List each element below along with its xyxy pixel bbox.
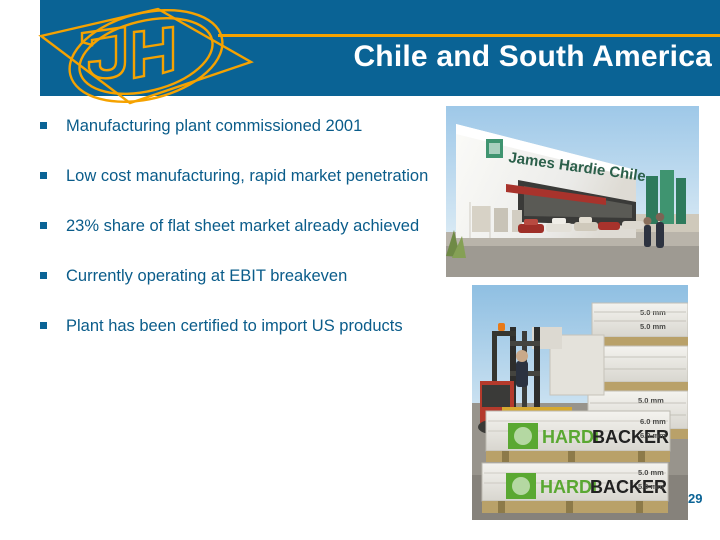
list-item: 23% share of flat sheet market already a… <box>40 214 432 239</box>
svg-text:5.0 mm: 5.0 mm <box>638 482 664 491</box>
svg-text:6.0 mm: 6.0 mm <box>640 431 666 440</box>
header-accent-rule <box>218 34 720 37</box>
page-number: 29 <box>688 491 702 506</box>
bullet-list: Manufacturing plant commissioned 2001 Lo… <box>40 114 432 364</box>
list-item-label: Plant has been certified to import US pr… <box>66 314 403 339</box>
james-hardie-jh-logo <box>30 0 270 112</box>
plant-exterior-photo: James Hardie Chile <box>446 106 699 277</box>
svg-text:5.0 mm: 5.0 mm <box>640 308 666 317</box>
list-item-label: Currently operating at EBIT breakeven <box>66 264 347 289</box>
bullet-square-icon <box>40 122 47 129</box>
list-item: Manufacturing plant commissioned 2001 <box>40 114 432 139</box>
list-item: Currently operating at EBIT breakeven <box>40 264 432 289</box>
list-item: Plant has been certified to import US pr… <box>40 314 432 339</box>
bullet-square-icon <box>40 322 47 329</box>
bullet-square-icon <box>40 172 47 179</box>
bullet-square-icon <box>40 272 47 279</box>
list-item-label: Manufacturing plant commissioned 2001 <box>66 114 362 139</box>
list-item: Low cost manufacturing, rapid market pen… <box>40 164 432 189</box>
svg-text:5.0 mm: 5.0 mm <box>640 322 666 331</box>
svg-text:6.0 mm: 6.0 mm <box>640 417 666 426</box>
svg-text:5.0 mm: 5.0 mm <box>638 468 664 477</box>
list-item-label: 23% share of flat sheet market already a… <box>66 214 419 239</box>
hardibacker-pallets-photo: 5.0 mm 5.0 mm 5.0 mm 5.0 mm <box>472 285 688 520</box>
bullet-square-icon <box>40 222 47 229</box>
list-item-label: Low cost manufacturing, rapid market pen… <box>66 164 428 189</box>
svg-text:5.0 mm: 5.0 mm <box>638 396 664 405</box>
svg-text:HARDI: HARDI <box>542 427 599 447</box>
svg-text:HARDI: HARDI <box>540 477 597 497</box>
